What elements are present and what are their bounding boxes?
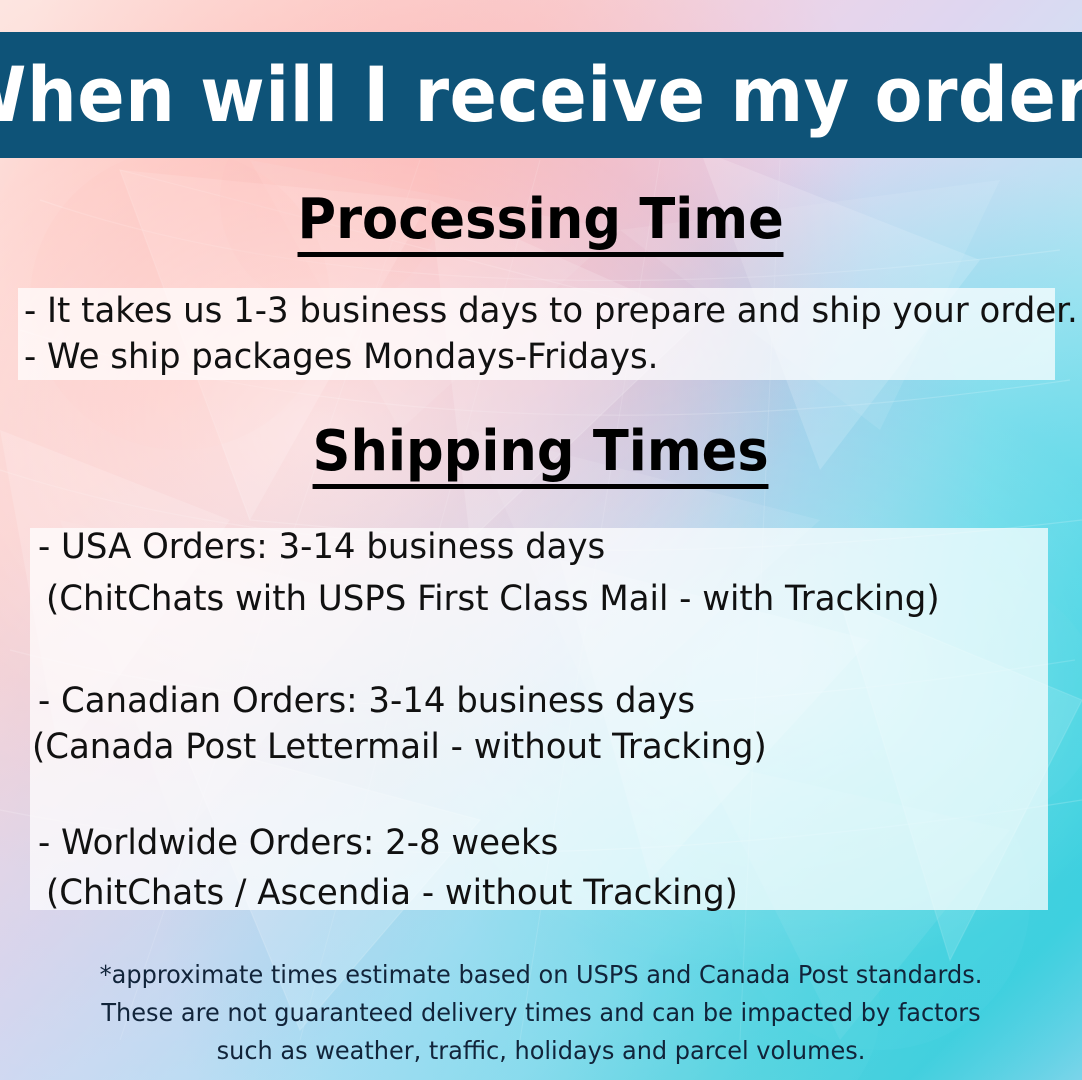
footnote-line-2: These are not guaranteed delivery times … — [22, 1000, 1061, 1025]
processing-time-line-2: - We ship packages Mondays-Fridays. — [24, 340, 658, 375]
processing-time-line-1: - It takes us 1-3 business days to prepa… — [24, 294, 1078, 329]
section-heading-processing-time: Processing Time — [0, 192, 1082, 257]
shipping-entry-usa-line-2: (ChitChats with USPS First Class Mail - … — [46, 582, 940, 617]
page-title: When will I receive my order? — [0, 57, 1082, 133]
shipping-entry-usa-line-1: - USA Orders: 3-14 business days — [38, 530, 605, 565]
poster-content: Processing Time - It takes us 1-3 busine… — [0, 0, 1082, 1080]
shipping-entry-canada-line-2: (Canada Post Lettermail - without Tracki… — [32, 730, 767, 765]
section-heading-processing-time-text: Processing Time — [298, 192, 784, 257]
section-heading-shipping-times-text: Shipping Times — [313, 424, 769, 489]
footnote-line-1: *approximate times estimate based on USP… — [22, 962, 1061, 987]
section-heading-shipping-times: Shipping Times — [0, 424, 1082, 489]
footnote-line-3: such as weather, traffic, holidays and p… — [22, 1038, 1061, 1063]
header-banner: When will I receive my order? — [0, 32, 1082, 158]
shipping-entry-canada-line-1: - Canadian Orders: 3-14 business days — [38, 684, 695, 719]
shipping-entry-worldwide-line-1: - Worldwide Orders: 2-8 weeks — [38, 826, 558, 861]
shipping-entry-worldwide-line-2: (ChitChats / Ascendia - without Tracking… — [46, 876, 738, 911]
shipping-policy-poster: When will I receive my order? Processing… — [0, 0, 1082, 1080]
